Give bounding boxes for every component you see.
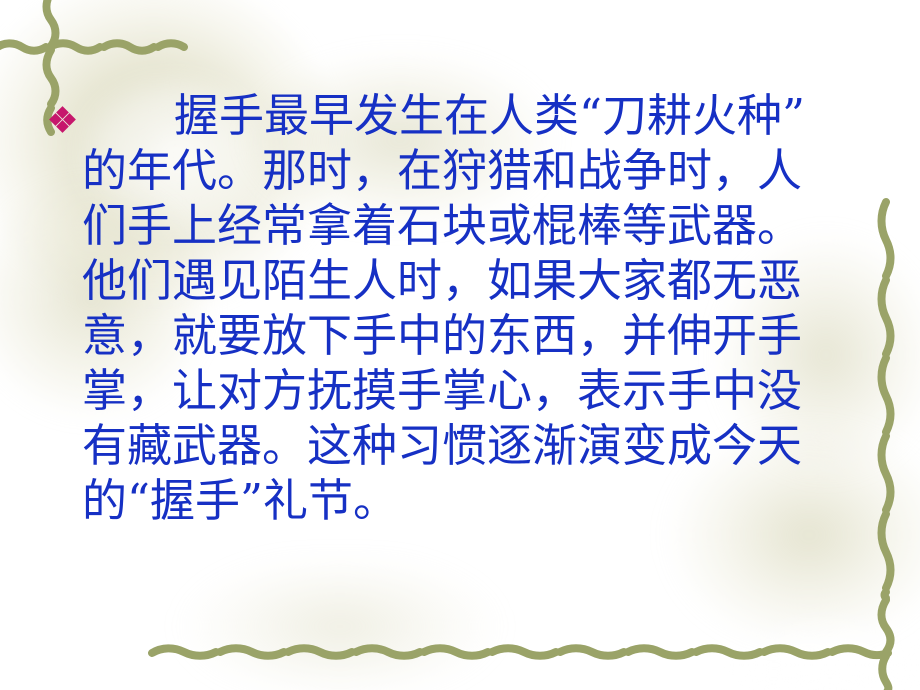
bamboo-vine-right-vertical-icon [872,200,904,600]
watercolor-wash-bottom-center [130,560,550,690]
slide-canvas: 握手最早发生在人类“刀耕火种” 的年代。那时，在狩猎和战争时，人 们手上经常拿着… [0,0,920,690]
body-line: 有藏武器。这种习惯逐渐演变成今天 [82,418,872,473]
bamboo-vine-bottom-horizontal-icon [150,638,890,668]
watercolor-highlight-bottom-right [700,600,920,690]
body-line: 掌，让对方抚摸手掌心，表示手中没 [82,363,872,418]
body-line: 握手最早发生在人类“刀耕火种” [82,88,872,143]
bamboo-vine-top-horizontal-icon [0,30,204,64]
slide-body-text: 握手最早发生在人类“刀耕火种” 的年代。那时，在狩猎和战争时，人 们手上经常拿着… [82,88,872,528]
body-line: 的年代。那时，在狩猎和战争时，人 [82,143,872,198]
diamond-bullet-icon [51,108,79,136]
body-line: 意，就要放下手中的东西，并伸开手 [82,308,872,363]
bamboo-vine-bottom-right-vertical-icon [872,598,904,690]
body-line: 的“握手”礼节。 [82,473,872,528]
body-line: 们手上经常拿着石块或棍棒等武器。 [82,198,872,253]
body-line: 他们遇见陌生人时，如果大家都无恶 [82,253,872,308]
